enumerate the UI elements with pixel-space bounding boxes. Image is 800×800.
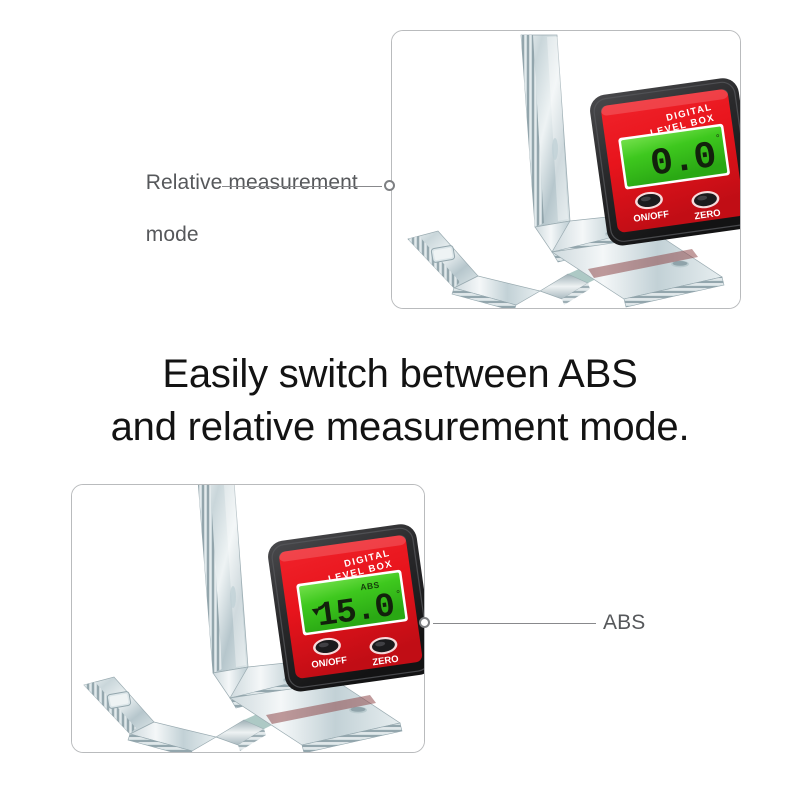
- callout-relative-mode-label: Relative measurement mode: [122, 144, 392, 274]
- photo-stage-top: DIGITAL LEVEL BOX 0.0 °: [392, 31, 740, 308]
- leader-dot-relative-mode: [384, 180, 395, 191]
- digital-level-box-device-bottom: DIGITAL LEVEL BOX ABS 15.0 °: [266, 522, 424, 693]
- top-photo-illustration: DIGITAL LEVEL BOX 0.0 °: [392, 31, 740, 308]
- page-headline: Easily switch between ABS and relative m…: [0, 348, 800, 454]
- callout-relative-line2: mode: [146, 223, 199, 246]
- product-photo-top: DIGITAL LEVEL BOX 0.0 °: [391, 30, 741, 309]
- leader-line-abs-mode: [433, 623, 596, 624]
- leader-dot-abs-mode: [419, 617, 430, 628]
- callout-abs-mode-label: ABS: [603, 610, 645, 636]
- callout-relative-line1: Relative measurement: [146, 171, 358, 194]
- product-photo-bottom: DIGITAL LEVEL BOX ABS 15.0 °: [71, 484, 425, 753]
- leader-line-relative-mode: [222, 186, 382, 187]
- infographic-page: DIGITAL LEVEL BOX 0.0 °: [0, 0, 800, 800]
- photo-stage-bottom: DIGITAL LEVEL BOX ABS 15.0 °: [72, 485, 424, 752]
- digital-level-box-device: DIGITAL LEVEL BOX 0.0 °: [588, 76, 740, 247]
- bottom-photo-illustration: DIGITAL LEVEL BOX ABS 15.0 °: [72, 485, 424, 752]
- headline-line-2: and relative measurement mode.: [0, 401, 800, 454]
- lcd-value-top: 0.0: [648, 135, 719, 187]
- headline-line-1: Easily switch between ABS: [0, 348, 800, 401]
